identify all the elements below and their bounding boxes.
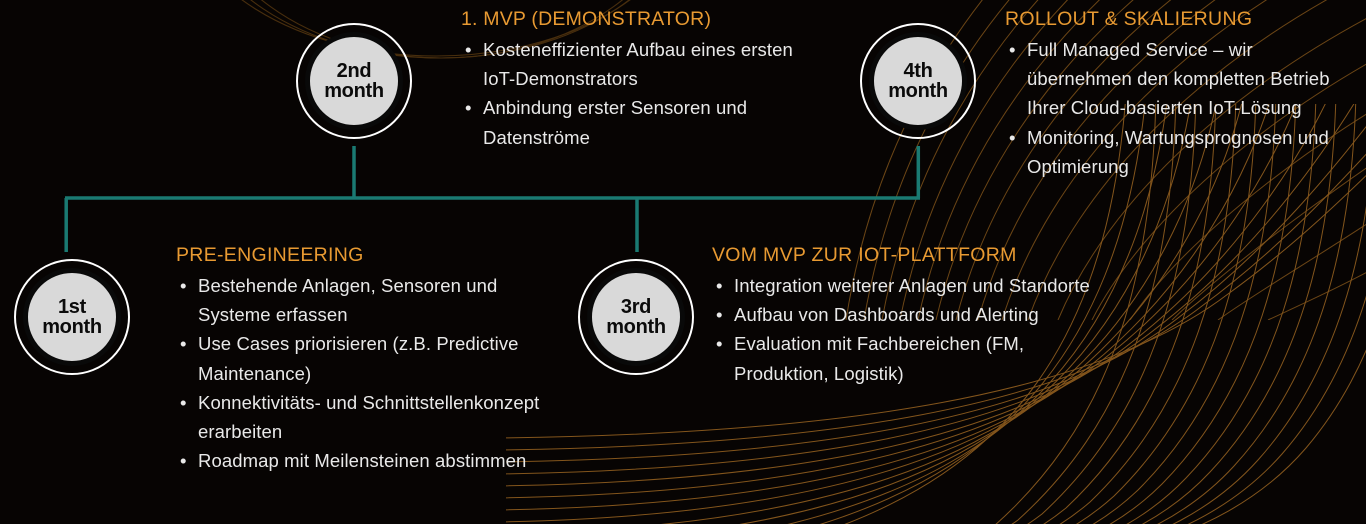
list-item: Evaluation mit Fachbereichen (FM, Produk… (712, 329, 1092, 387)
list-item: Anbindung erster Sensoren und Datenström… (461, 93, 821, 151)
month-ordinal: 1st (58, 297, 86, 317)
month-ordinal: 2nd (337, 61, 372, 81)
month-node-2nd[interactable]: 2nd month (296, 23, 412, 139)
list-item: Roadmap mit Meilensteinen abstimmen (176, 446, 546, 475)
phase-block-iot-plattform: VOM MVP ZUR IOT-PLATTFORM Integration we… (712, 244, 1092, 388)
list-item: Use Cases priorisieren (z.B. Predictive … (176, 329, 546, 387)
phase-title: PRE-ENGINEERING (176, 244, 546, 267)
list-item: Kosteneffizienter Aufbau eines ersten Io… (461, 35, 821, 93)
month-disc: 4th month (869, 32, 967, 130)
month-word: month (42, 317, 102, 337)
month-word: month (606, 317, 666, 337)
list-item: Bestehende Anlagen, Sensoren und Systeme… (176, 271, 546, 329)
phase-title: VOM MVP ZUR IOT-PLATTFORM (712, 244, 1092, 267)
list-item: Aufbau von Dashboards und Alerting (712, 300, 1092, 329)
month-disc: 1st month (23, 268, 121, 366)
month-node-3rd[interactable]: 3rd month (578, 259, 694, 375)
phase-bullet-list: Kosteneffizienter Aufbau eines ersten Io… (461, 35, 821, 152)
phase-bullet-list: Full Managed Service – wir übernehmen de… (1005, 35, 1355, 181)
phase-title: ROLLOUT & SKALIERUNG (1005, 8, 1355, 31)
list-item: Monitoring, Wartungsprognosen und Optimi… (1005, 123, 1355, 181)
phase-block-rollout: ROLLOUT & SKALIERUNG Full Managed Servic… (1005, 8, 1355, 181)
month-disc: 2nd month (305, 32, 403, 130)
month-ordinal: 4th (903, 61, 932, 81)
phase-block-mvp: 1. MVP (DEMONSTRATOR) Kosteneffizienter … (461, 8, 821, 152)
month-node-1st[interactable]: 1st month (14, 259, 130, 375)
phase-bullet-list: Bestehende Anlagen, Sensoren und Systeme… (176, 271, 546, 476)
month-node-4th[interactable]: 4th month (860, 23, 976, 139)
phase-block-pre-engineering: PRE-ENGINEERING Bestehende Anlagen, Sens… (176, 244, 546, 476)
phase-title: 1. MVP (DEMONSTRATOR) (461, 8, 821, 31)
list-item: Konnektivitäts- und Schnittstellenkonzep… (176, 388, 546, 446)
month-word: month (324, 81, 384, 101)
month-word: month (888, 81, 948, 101)
list-item: Integration weiterer Anlagen und Standor… (712, 271, 1092, 300)
month-ordinal: 3rd (621, 297, 651, 317)
month-disc: 3rd month (587, 268, 685, 366)
phase-bullet-list: Integration weiterer Anlagen und Standor… (712, 271, 1092, 388)
list-item: Full Managed Service – wir übernehmen de… (1005, 35, 1355, 123)
roadmap-timeline-slide: 1st month 2nd month 3rd month 4th month … (0, 0, 1366, 524)
